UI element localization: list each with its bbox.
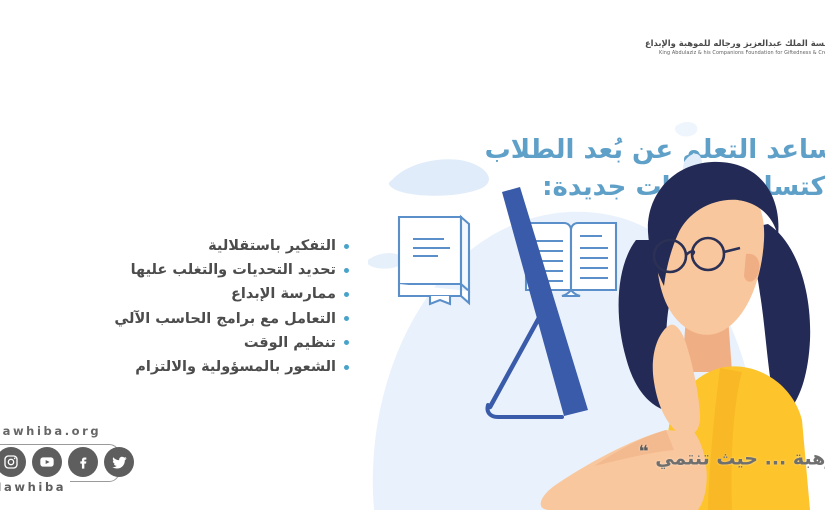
bullet-dot-icon <box>344 268 349 273</box>
list-item: التفكير باستقلالية <box>0 234 349 258</box>
list-item-label: تحديد التحديات والتغلب عليها <box>131 261 336 279</box>
list-item-label: تنظيم الوقت <box>244 334 336 352</box>
bullet-dot-icon <box>344 340 349 345</box>
bullet-dot-icon <box>344 292 349 297</box>
bullet-dot-icon <box>344 244 349 249</box>
twitter-icon[interactable] <box>104 447 134 477</box>
list-item-label: التعامل مع برامج الحاسب الآلي <box>114 310 336 328</box>
list-item: ممارسة الإبداع <box>0 282 349 306</box>
closed-book-icon <box>399 217 469 304</box>
list-item-label: التفكير باستقلالية <box>208 237 336 255</box>
logo-arabic-text: مؤسسة الملك عبدالعزيز ورجاله للموهبة وال… <box>633 38 825 49</box>
website-url[interactable]: mawhiba.org <box>0 424 101 438</box>
youtube-icon[interactable] <box>32 447 62 477</box>
list-item: التعامل مع برامج الحاسب الآلي <box>0 307 349 331</box>
facebook-icon[interactable] <box>68 447 98 477</box>
list-item: تحديد التحديات والتغلب عليها <box>0 258 349 282</box>
logo-english-text: King Abdulaziz & his Companions Foundati… <box>633 49 825 57</box>
list-item: تنظيم الوقت <box>0 331 349 355</box>
list-item-label: الشعور بالمسؤولية والالتزام <box>135 358 336 376</box>
instagram-icon[interactable] <box>0 447 26 477</box>
bullet-dot-icon <box>344 365 349 370</box>
mawhiba-logo: مؤسسة الملك عبدالعزيز ورجاله للموهبة وال… <box>633 38 825 57</box>
social-links <box>0 447 134 477</box>
cloud-shape <box>675 122 697 137</box>
poster-canvas: مؤسسة الملك عبدالعزيز ورجاله للموهبة وال… <box>0 0 825 510</box>
bullet-dot-icon <box>344 316 349 321</box>
tagline: موهبة ... حيث تنتمي ❝ <box>639 442 825 469</box>
quote-mark-icon: ❝ <box>639 442 649 462</box>
list-item-label: ممارسة الإبداع <box>231 285 336 303</box>
list-item: الشعور بالمسؤولية والالتزام <box>0 355 349 379</box>
tagline-text: موهبة ... حيث تنتمي <box>655 447 825 469</box>
cloud-shape <box>389 159 489 196</box>
brand-name: Mawhiba <box>0 480 70 494</box>
